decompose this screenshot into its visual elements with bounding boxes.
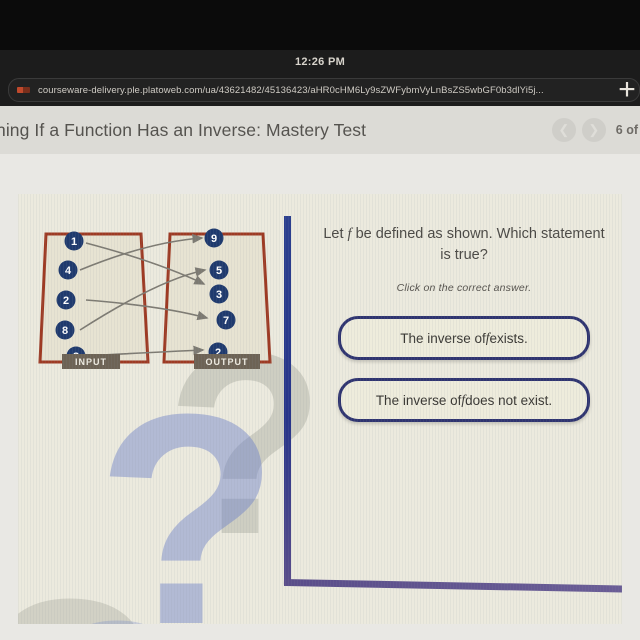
input-label: INPUT	[75, 357, 107, 367]
input-node-label: 1	[71, 236, 77, 248]
prompt-suffix: be defined as shown. Which statement is …	[352, 226, 605, 263]
status-bar: 12:26 PM	[0, 50, 640, 74]
instruction-text: Click on the correct answer.	[308, 282, 620, 294]
answer-b-prefix: The inverse of	[376, 393, 462, 408]
header-nav-group: ❮ ❯ 6 of	[552, 106, 640, 154]
browser-address-bar[interactable]: courseware-delivery.ple.platoweb.com/ua/…	[0, 74, 640, 106]
input-node-label: 2	[63, 295, 69, 307]
page-body: ? ? ? ?	[0, 154, 640, 640]
question-prompt: Let f be defined as shown. Which stateme…	[308, 224, 620, 266]
answer-a-suffix: exists.	[490, 331, 528, 346]
output-node-label: 7	[223, 315, 229, 327]
chevron-left-icon[interactable]: ❮	[552, 118, 576, 142]
output-node-label: 5	[216, 265, 222, 277]
site-favicon-icon	[17, 87, 30, 93]
page-counter: 6 of	[616, 123, 638, 137]
question-card: ? ? ? ?	[18, 194, 622, 624]
page-header: ining If a Function Has an Inverse: Mast…	[0, 106, 640, 154]
answer-a-prefix: The inverse of	[400, 331, 486, 346]
question-mark-watermark: ?	[40, 584, 193, 624]
url-text: courseware-delivery.ple.platoweb.com/ua/…	[38, 85, 544, 96]
output-label: OUTPUT	[206, 357, 249, 367]
function-mapping-diagram: 1 4 2 8 3 9 5 3	[18, 214, 280, 394]
panel-divider-horizontal	[284, 579, 622, 593]
status-bar-clock: 12:26 PM	[295, 56, 345, 68]
input-node-label: 4	[65, 265, 72, 277]
url-pill[interactable]: courseware-delivery.ple.platoweb.com/ua/…	[8, 78, 640, 102]
plus-icon[interactable]: +	[612, 76, 640, 106]
input-set-box	[40, 234, 148, 362]
prompt-prefix: Let	[323, 226, 347, 242]
answer-choice-b[interactable]: The inverse of f does not exist.	[338, 378, 590, 422]
phone-bezel-top	[0, 0, 640, 50]
answer-b-suffix: does not exist.	[465, 393, 552, 408]
output-node-label: 3	[216, 289, 222, 301]
chevron-right-icon[interactable]: ❯	[582, 118, 606, 142]
output-node-label: 9	[211, 233, 217, 245]
output-label-tab: OUTPUT	[194, 354, 260, 369]
answer-choice-a[interactable]: The inverse of f exists.	[338, 316, 590, 360]
page-title: ining If a Function Has an Inverse: Mast…	[0, 120, 366, 141]
input-label-tab: INPUT	[62, 354, 120, 369]
input-node-label: 8	[62, 325, 68, 337]
panel-divider-vertical	[284, 216, 291, 586]
question-panel: Let f be defined as shown. Which stateme…	[308, 224, 620, 574]
